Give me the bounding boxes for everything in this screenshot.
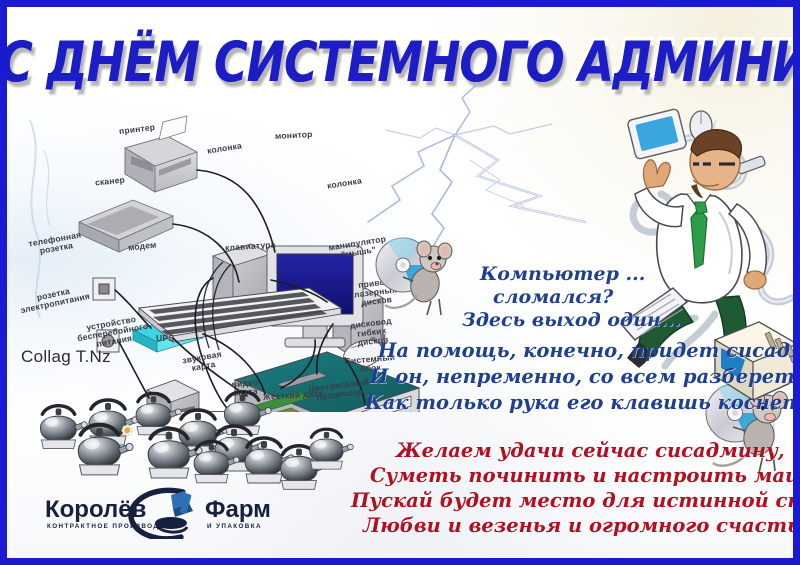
kettle-icon — [65, 417, 134, 486]
kettle-icon — [183, 435, 240, 492]
collag-watermark: Collag T.Nz — [21, 347, 111, 367]
phone-socket-icon — [93, 278, 115, 300]
poem-line: Как только рука его клавишь коснется!!! — [365, 391, 800, 414]
title-banner: С ДНЁМ СИСТЕМНОГО АДМИНИСТРАТОРА! С ДНЁМ… — [7, 33, 793, 105]
scanner-icon — [79, 200, 173, 252]
diagram-label: монитор — [275, 130, 313, 141]
poem-line: Компьютер ... — [480, 263, 645, 285]
poem-line: Любви и везенья и огромного счастья! — [363, 514, 800, 537]
poem-line: И он, непременно, со всем разберется, — [370, 365, 800, 388]
poem-line: Здесь выход один... — [462, 309, 681, 331]
poem-line: сломался? — [493, 286, 613, 308]
microscope-icon — [127, 487, 209, 539]
logo-word-right: Фарм — [205, 496, 271, 524]
poem-line: Желаем удачи сейчас сисадмину, — [396, 439, 785, 462]
page-title: С ДНЁМ СИСТЕМНОГО АДМИНИСТРАТОРА! — [0, 30, 800, 95]
company-logo[interactable]: Королёв КОНТРАКТНОЕ ПРОИЗВОДСТВО Фарм И … — [45, 490, 275, 542]
greeting-card: С ДНЁМ СИСТЕМНОГО АДМИНИСТРАТОРА! С ДНЁМ… — [0, 0, 800, 565]
kettle-icon — [299, 423, 354, 478]
daisy-icon — [121, 425, 133, 437]
poem-line: Пускай будет место для истинной страсти, — [351, 489, 800, 512]
diagram-label: UPS — [156, 334, 174, 343]
tablet-icon — [627, 108, 687, 159]
logo-sub-right: И УПАКОВКА — [207, 523, 262, 530]
poem-line: Суметь починить и настроить машину, — [370, 464, 800, 487]
poem-line: На помощь, конечно, придет сисадмин. — [378, 339, 800, 362]
